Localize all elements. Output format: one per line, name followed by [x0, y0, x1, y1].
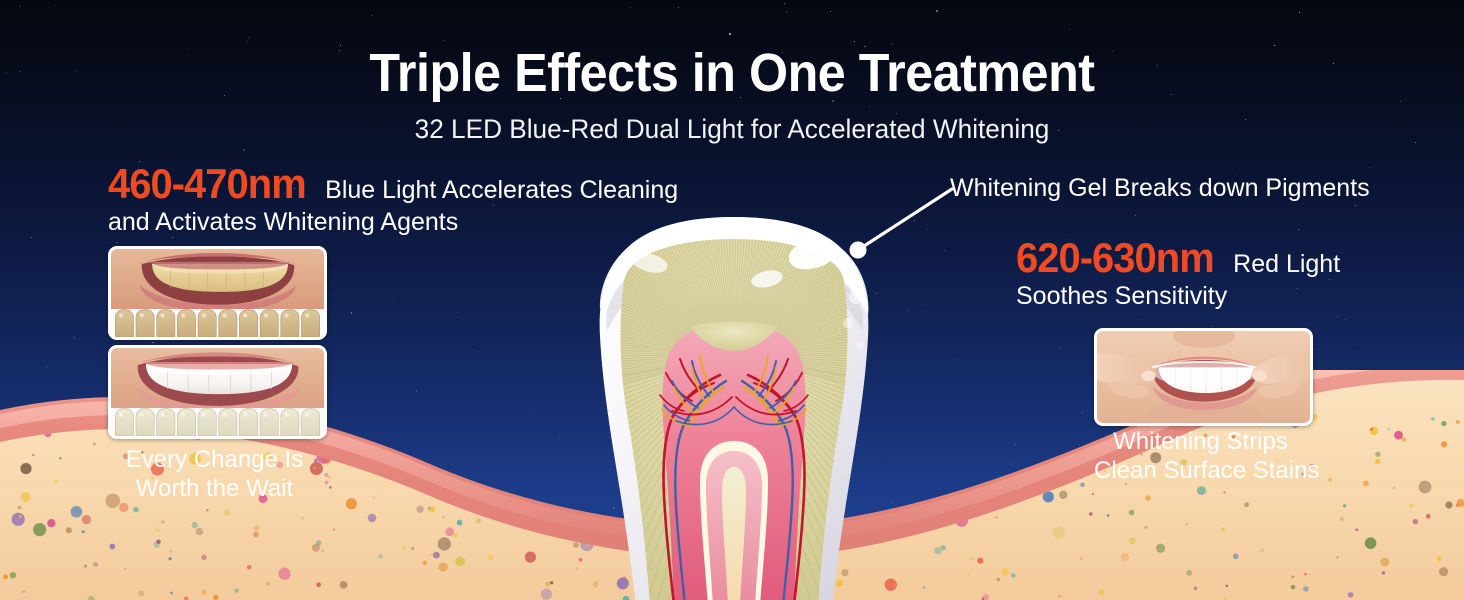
- right-feature-block: 620-630nm Red Light Soothes Sensitivity: [1016, 234, 1456, 311]
- infographic-banner: Triple Effects in One Treatment 32 LED B…: [0, 0, 1464, 600]
- left-caption-line2: Worth the Wait: [108, 474, 321, 503]
- left-photo-caption: Every Change Is Worth the Wait: [108, 445, 321, 503]
- left-feature-desc-line2: and Activates Whitening Agents: [108, 208, 768, 237]
- right-photo-caption: Whitening Strips Clean Surface Stains: [1094, 427, 1307, 485]
- right-feature-line1: 620-630nm Red Light: [1016, 234, 1456, 280]
- gel-callout-label: Whitening Gel Breaks down Pigments: [950, 174, 1370, 203]
- whitening-strip-photo: [1094, 328, 1313, 426]
- right-feature-desc-line2: Soothes Sensitivity: [1016, 282, 1456, 311]
- right-wavelength-value: 620-630nm: [1016, 234, 1214, 282]
- right-feature-desc-line1: Red Light: [1233, 250, 1340, 279]
- page-title: Triple Effects in One Treatment: [51, 44, 1413, 102]
- right-caption-line1: Whitening Strips: [1094, 427, 1307, 456]
- left-wavelength-value: 460-470nm: [108, 160, 306, 208]
- tooth-cross-section-illustration: [524, 205, 944, 600]
- left-feature-desc-line1: Blue Light Accelerates Cleaning: [325, 176, 678, 205]
- right-caption-line2: Clean Surface Stains: [1094, 456, 1307, 485]
- left-caption-line1: Every Change Is: [108, 445, 321, 474]
- after-whitening-photo: [108, 345, 327, 439]
- left-feature-line1: 460-470nm Blue Light Accelerates Cleanin…: [108, 160, 768, 206]
- page-subtitle: 32 LED Blue-Red Dual Light for Accelerat…: [22, 113, 1442, 145]
- left-feature-block: 460-470nm Blue Light Accelerates Cleanin…: [108, 160, 768, 237]
- before-whitening-photo: [108, 246, 327, 340]
